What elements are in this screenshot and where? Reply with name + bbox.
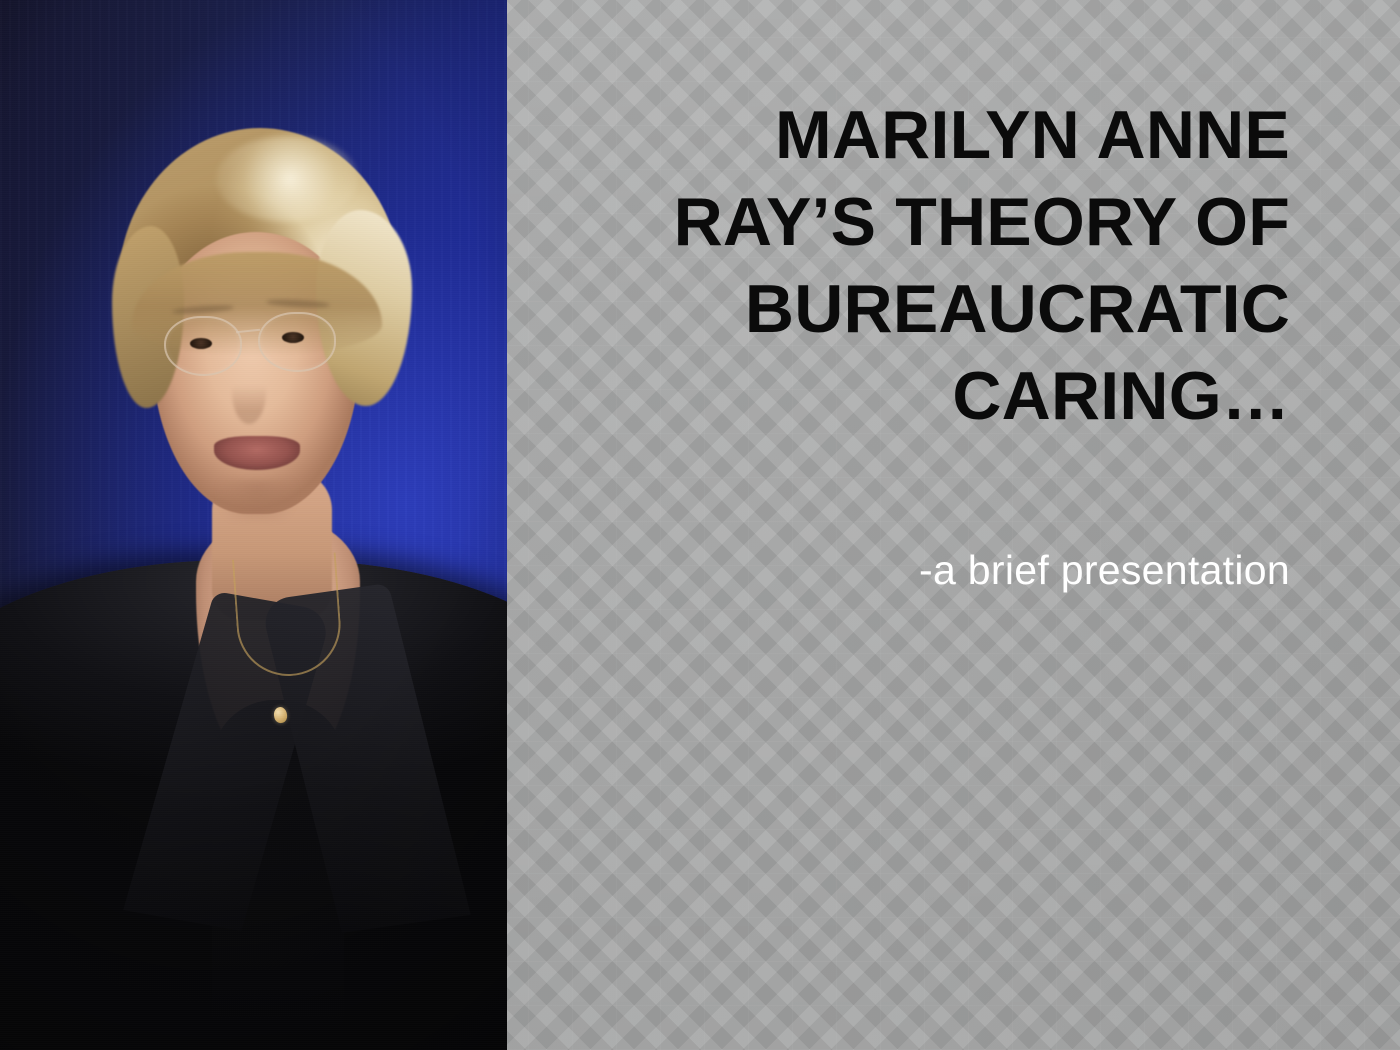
subtitle-text: -a brief presentation xyxy=(919,547,1290,593)
photo-vignette xyxy=(0,0,507,1050)
title-line-1: MARILYN ANNE xyxy=(560,92,1290,179)
portrait-photo xyxy=(0,0,507,1050)
slide-title: MARILYN ANNE RAY’S THEORY OF BUREAUCRATI… xyxy=(560,92,1290,440)
title-line-2: RAY’S THEORY OF xyxy=(560,179,1290,266)
slide-subtitle: -a brief presentation xyxy=(560,544,1290,596)
title-slide: MARILYN ANNE RAY’S THEORY OF BUREAUCRATI… xyxy=(0,0,1400,1050)
title-line-4: CARING… xyxy=(560,353,1290,440)
title-line-3: BUREAUCRATIC xyxy=(560,266,1290,353)
